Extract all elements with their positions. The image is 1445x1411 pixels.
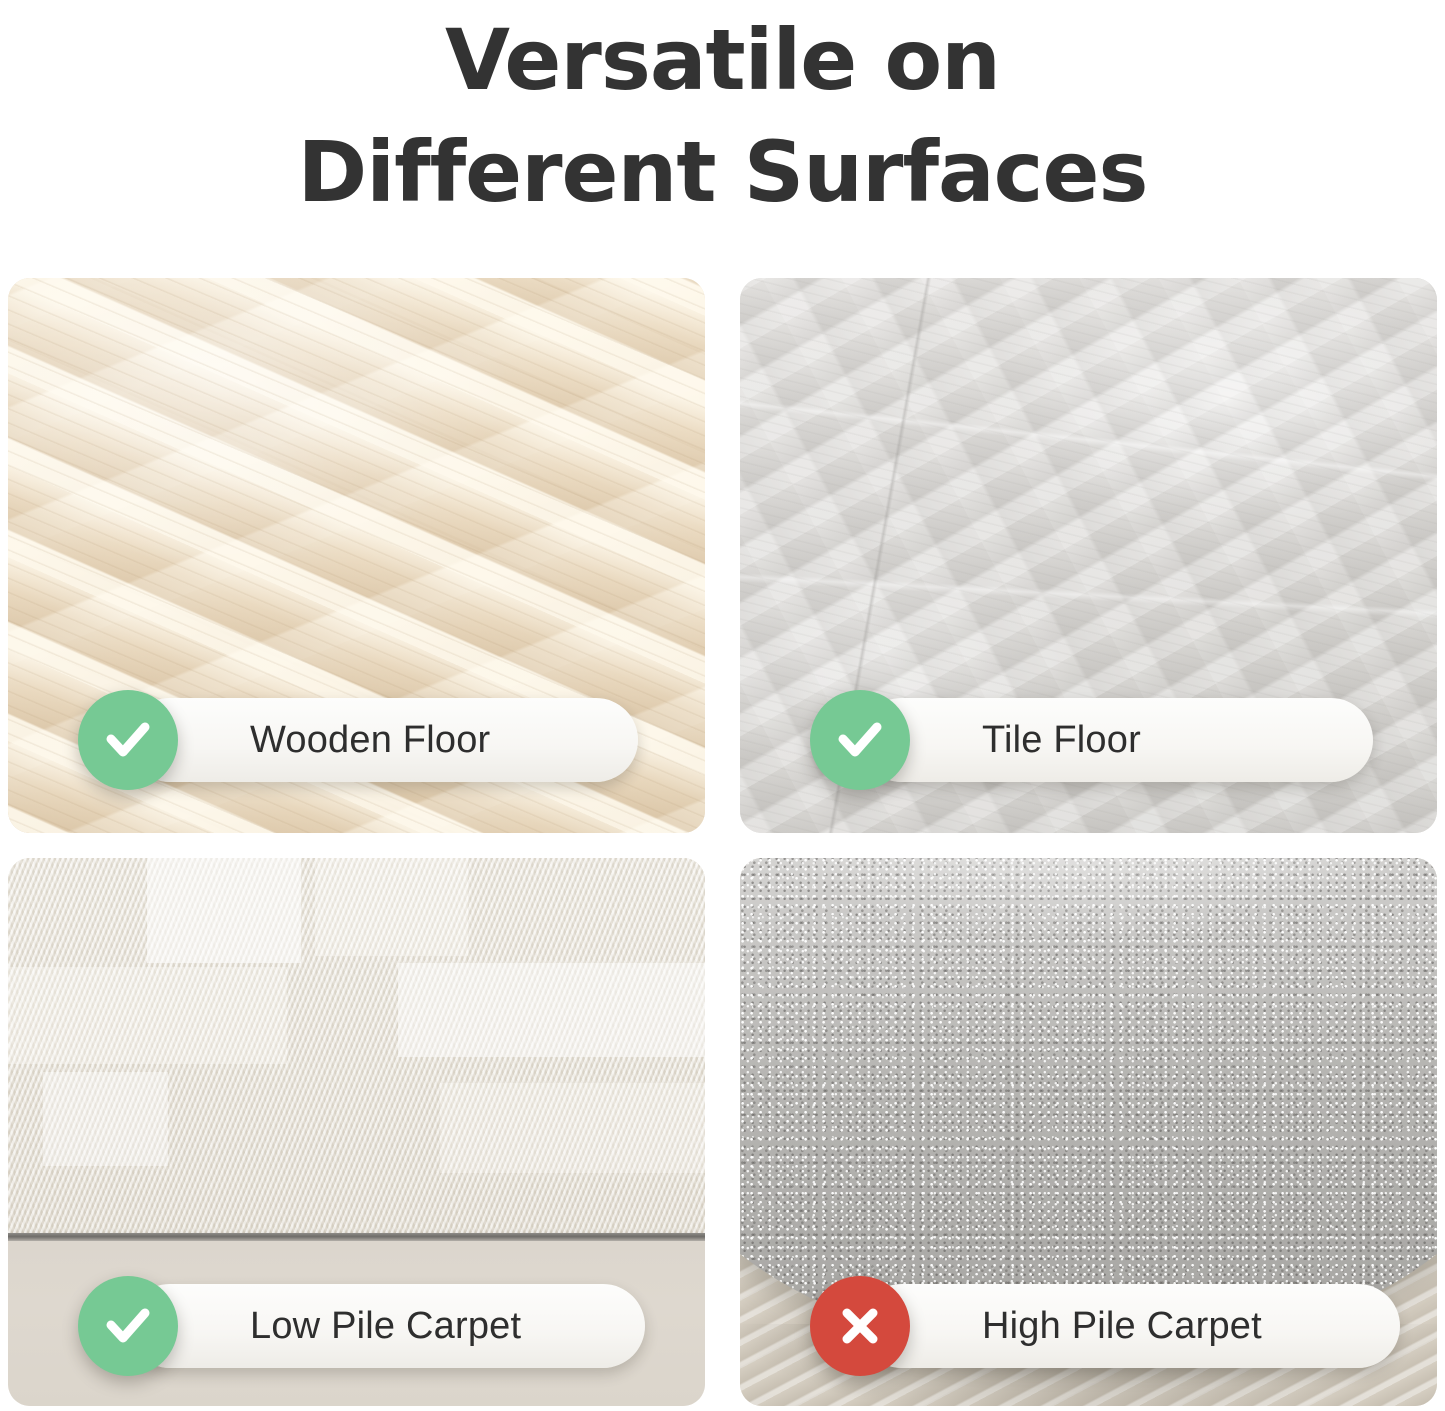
surface-label-tile-floor: Tile Floor bbox=[810, 690, 1373, 790]
page-title-line-2: Different Surfaces bbox=[0, 116, 1445, 228]
surface-label-text: Low Pile Carpet bbox=[250, 1305, 521, 1348]
rug-highlight bbox=[740, 858, 1437, 937]
surface-label-high-pile-carpet: High Pile Carpet bbox=[810, 1276, 1400, 1376]
carpet-edge-binding bbox=[8, 1233, 705, 1241]
surface-panel-high-pile-carpet: High Pile Carpet bbox=[740, 858, 1437, 1406]
page-title: Versatile on Different Surfaces bbox=[0, 0, 1445, 258]
surface-label-pill: High Pile Carpet bbox=[860, 1284, 1400, 1368]
surface-panel-tile-floor: Tile Floor bbox=[740, 278, 1437, 833]
carpet-block bbox=[398, 963, 705, 1057]
carpet-block bbox=[147, 858, 300, 963]
surface-label-text: High Pile Carpet bbox=[982, 1305, 1262, 1348]
check-icon bbox=[810, 690, 910, 790]
check-icon bbox=[78, 690, 178, 790]
surface-label-wooden-floor: Wooden Floor bbox=[78, 690, 638, 790]
surface-label-low-pile-carpet: Low Pile Carpet bbox=[78, 1276, 645, 1376]
surface-panel-grid: Wooden Floor Tile Floor bbox=[8, 278, 1437, 1406]
carpet-weave bbox=[8, 858, 705, 1233]
surface-label-text: Tile Floor bbox=[982, 719, 1141, 762]
surface-label-text: Wooden Floor bbox=[250, 719, 490, 762]
carpet-block bbox=[440, 1083, 705, 1173]
carpet-block bbox=[315, 858, 468, 956]
check-icon bbox=[78, 1276, 178, 1376]
surface-label-pill: Wooden Floor bbox=[128, 698, 638, 782]
cross-icon bbox=[810, 1276, 910, 1376]
carpet-block bbox=[8, 967, 287, 1065]
surface-panel-wooden-floor: Wooden Floor bbox=[8, 278, 705, 833]
surface-label-pill: Tile Floor bbox=[860, 698, 1373, 782]
surface-label-pill: Low Pile Carpet bbox=[128, 1284, 645, 1368]
page-title-line-1: Versatile on bbox=[0, 4, 1445, 116]
carpet-block bbox=[43, 1072, 168, 1166]
surface-panel-low-pile-carpet: Low Pile Carpet bbox=[8, 858, 705, 1406]
